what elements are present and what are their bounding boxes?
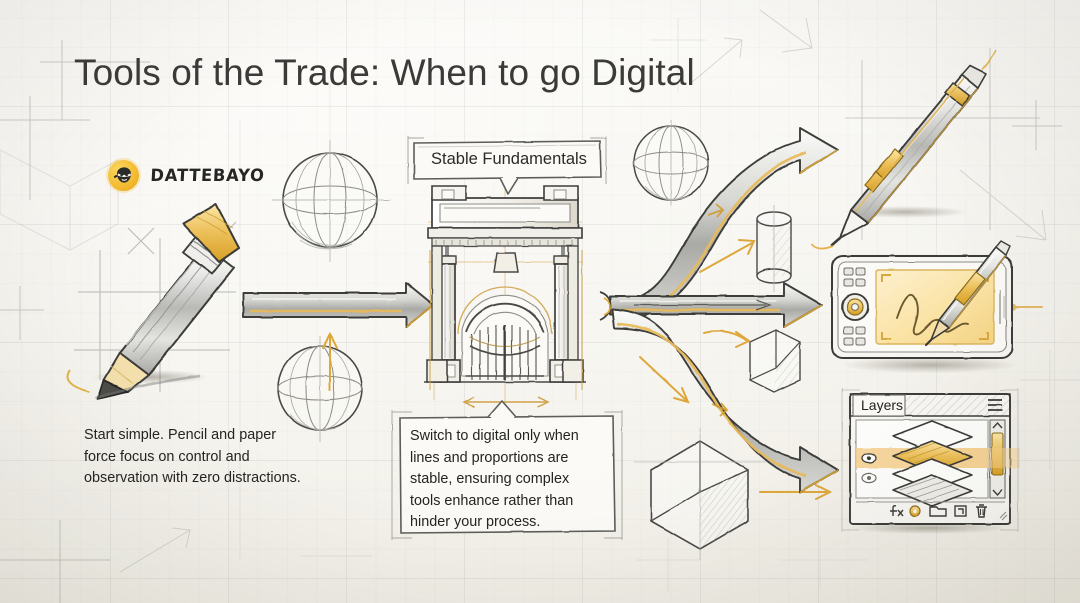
stable-fundamentals-label: Stable Fundamentals: [417, 144, 601, 176]
wireframe-cube-large: [634, 428, 766, 560]
analog-caption: Start simple. Pencil and paper force foc…: [84, 425, 309, 490]
page-title: Tools of the Trade: When to go Digital: [74, 52, 695, 94]
caption-line: tools enhance rather than: [410, 491, 606, 513]
caption-line: zero distractions.: [192, 470, 301, 486]
layer-mask-icon: [910, 506, 920, 516]
analog-to-gateway-arrow: [243, 283, 433, 327]
pointer-to-tablet-arrow: [1010, 304, 1042, 310]
pointer-to-layers-arrow: [760, 485, 830, 499]
drawing-tablet-illustration: [832, 241, 1018, 373]
transition-caption: Switch to digital only when lines and pr…: [410, 426, 606, 534]
stylus-illustration: [812, 50, 996, 249]
caption-line: hinder your process.: [410, 512, 606, 534]
caption-line: stable, ensuring complex: [410, 469, 606, 491]
caption-line: lines and proportions are: [410, 448, 606, 470]
flow-convergence-node: [600, 292, 611, 320]
brand-wordmark: DATTEBAYO: [150, 166, 265, 186]
infographic-canvas: Tools of the Trade: When to go Digital D…: [0, 0, 1080, 603]
wireframe-sphere-top-left: [272, 140, 390, 262]
wireframe-cylinder: [757, 205, 791, 292]
pointer-to-box-arrow: [704, 331, 749, 347]
pencil-illustration: [68, 204, 240, 399]
ninja-face-icon: [108, 160, 139, 191]
wireframe-sphere-top-right: [634, 120, 708, 206]
wireframe-box-small: [750, 330, 800, 392]
caption-line: Switch to digital only when: [410, 426, 606, 448]
caption-line: Start simple. Pencil and: [84, 427, 235, 443]
archway-illustration: [424, 180, 586, 407]
eye-icon-row-1: [862, 453, 876, 462]
layers-panel-title: Layers: [861, 397, 903, 413]
pointer-to-cube-arrow: [640, 357, 688, 402]
eye-icon-row-2: [862, 473, 876, 482]
brand-logo[interactable]: DATTEBAYO: [108, 160, 267, 191]
